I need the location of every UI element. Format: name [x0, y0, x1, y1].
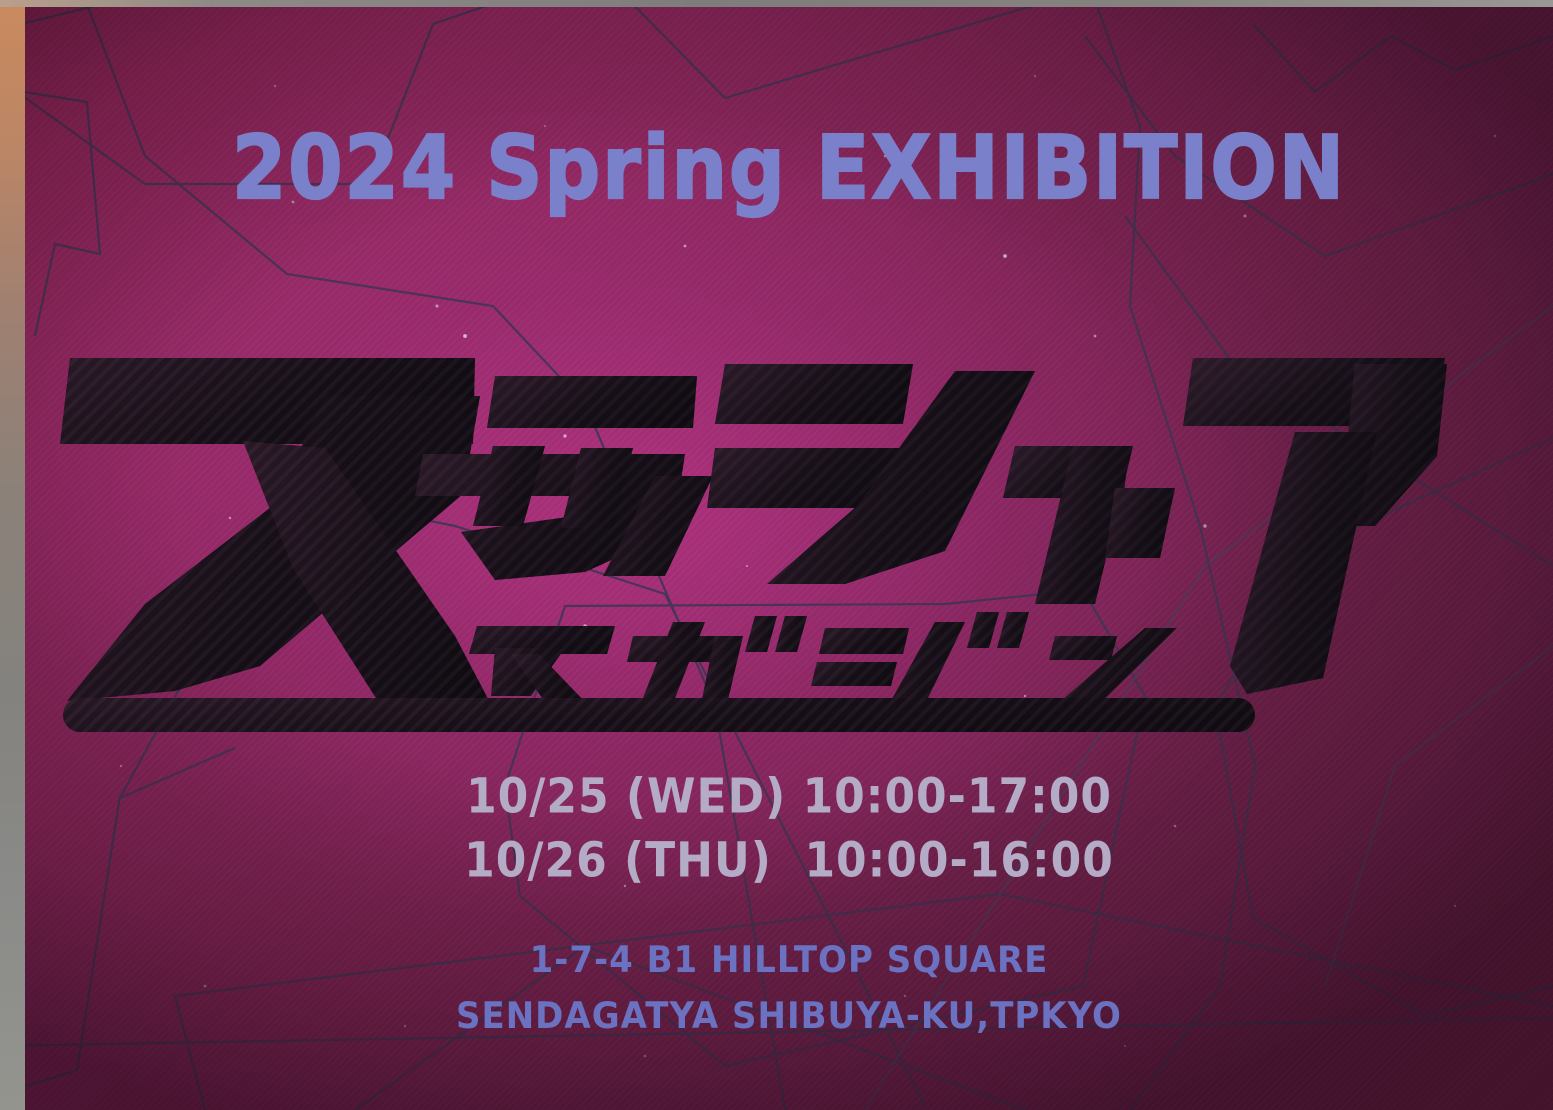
schedule-line-2: 10/26 (THU) 10:00-16:00 [25, 829, 1553, 893]
address-line-1: 1-7-4 B1 HILLTOP SQUARE [25, 932, 1553, 988]
logo-katakana-svg [25, 336, 1553, 736]
logo-sub-katakana [469, 612, 1177, 708]
address-line-2: SENDAGATYA SHIBUYA-KU,TPKYO [25, 988, 1553, 1044]
exhibition-poster: 2024 Spring EXHIBITION [0, 0, 1553, 1110]
schedule-block: 10/25 (WED) 10:00-17:00 10/26 (THU) 10:0… [25, 765, 1553, 893]
page-title: 2024 Spring EXHIBITION [25, 119, 1553, 220]
logo-slasher-magazine [25, 336, 1553, 736]
address-block: 1-7-4 B1 HILLTOP SQUARE SENDAGATYA SHIBU… [25, 932, 1553, 1044]
logo-main-katakana [60, 358, 1447, 731]
schedule-line-1: 10/25 (WED) 10:00-17:00 [25, 765, 1553, 829]
poster-panel: 2024 Spring EXHIBITION [25, 6, 1553, 1110]
logo-underline-bar [63, 698, 1255, 732]
top-edge-bar [0, 0, 1553, 7]
